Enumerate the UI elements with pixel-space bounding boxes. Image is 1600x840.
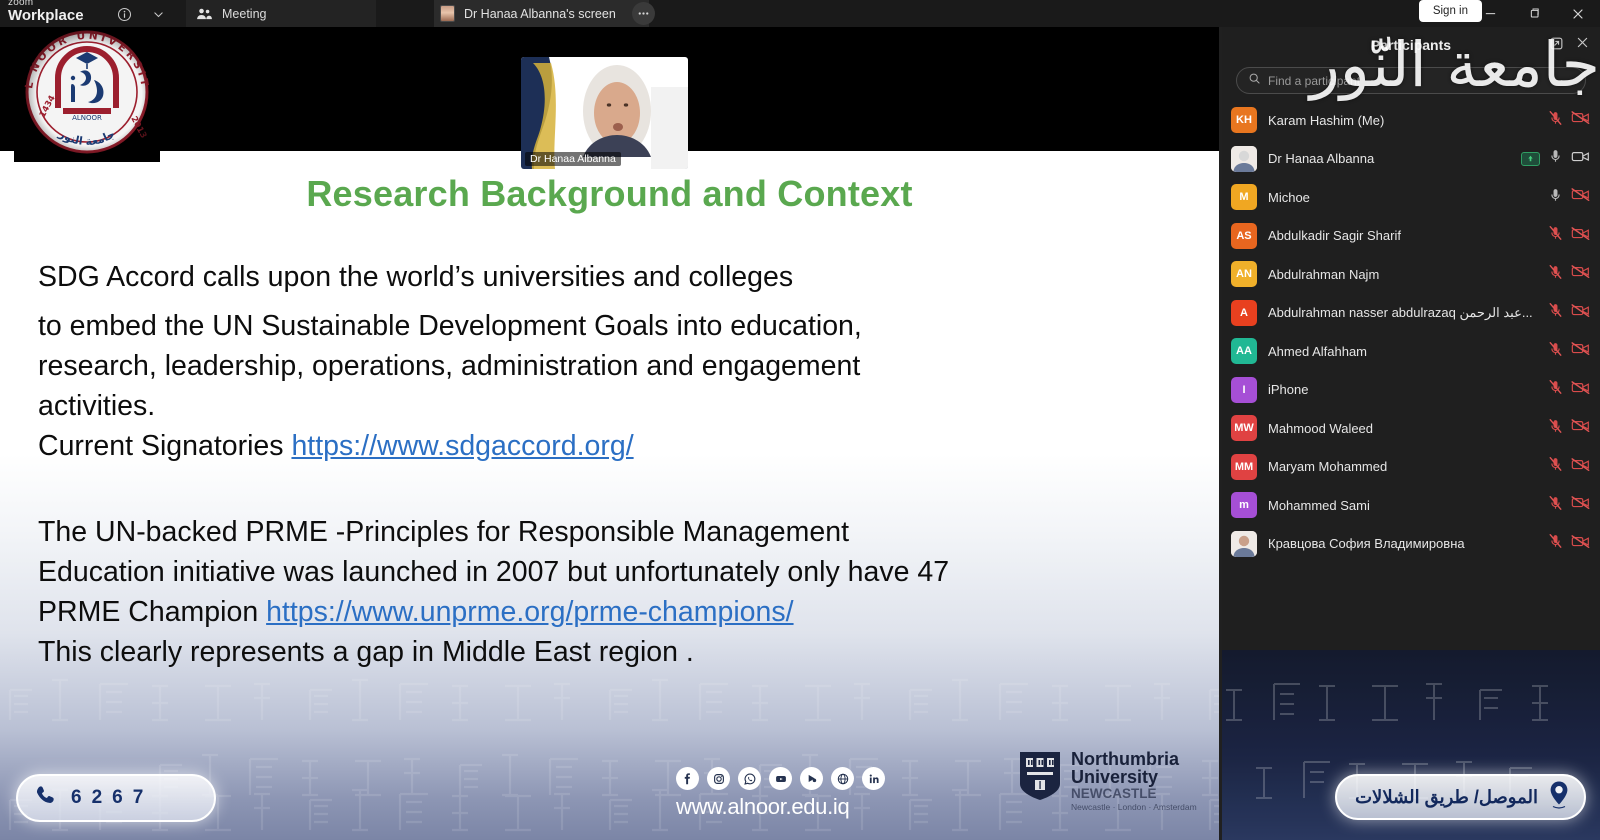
participant-row[interactable]: mMohammed Sami — [1222, 486, 1600, 525]
tab-meeting[interactable]: Meeting — [186, 0, 376, 27]
shared-screen-stage: Dr Hanaa Albanna Research Background and… — [0, 27, 1219, 840]
popout-icon[interactable] — [1549, 36, 1564, 56]
minimize-button[interactable] — [1468, 0, 1512, 27]
video-off-icon[interactable] — [1571, 418, 1590, 438]
video-off-icon[interactable] — [1571, 187, 1590, 207]
participant-name: Maryam Mohammed — [1268, 459, 1537, 474]
mic-muted-icon[interactable] — [1548, 225, 1563, 246]
search-icon — [1248, 72, 1261, 90]
mic-on-icon[interactable] — [1548, 148, 1563, 169]
slide-p1-l4: activities. — [38, 386, 1168, 426]
whatsapp-icon[interactable] — [738, 767, 761, 790]
mic-muted-icon[interactable] — [1548, 456, 1563, 477]
participant-status-icons — [1521, 148, 1590, 169]
zoom-window: zoom Workplace Meeting Dr Hanaa Albanna'… — [0, 0, 1600, 840]
participants-panel-header: Participants — [1222, 27, 1600, 63]
video-off-icon[interactable] — [1571, 495, 1590, 515]
northumbria-logo: Northumbria University NEWCASTLE Newcast… — [1018, 750, 1197, 812]
mic-muted-icon[interactable] — [1548, 495, 1563, 516]
participant-status-icons — [1548, 225, 1590, 246]
mic-muted-icon[interactable] — [1548, 379, 1563, 400]
participant-avatar — [1231, 146, 1257, 172]
slide-p2-l3: PRME Champion https://www.unprme.org/prm… — [38, 592, 1168, 632]
people-icon — [196, 7, 213, 21]
participant-status-icons — [1548, 456, 1590, 477]
participant-name: Abdulkadir Sagir Sharif — [1268, 228, 1537, 243]
linkedin-icon[interactable] — [862, 767, 885, 790]
slide-p2-l1: The UN-backed PRME -Principles for Respo… — [38, 512, 1168, 552]
participant-avatar: MM — [1231, 454, 1257, 480]
participant-avatar: KH — [1231, 107, 1257, 133]
tiktok-icon[interactable] — [800, 767, 823, 790]
participant-status-icons — [1548, 341, 1590, 362]
participant-row[interactable]: Кравцова София Владимировна — [1222, 525, 1600, 564]
northumbria-text: Northumbria University NEWCASTLE Newcast… — [1071, 750, 1197, 812]
location-text: الموصل/ طريق الشلالات — [1355, 787, 1538, 808]
self-view-video[interactable]: Dr Hanaa Albanna — [521, 57, 688, 169]
participant-name: iPhone — [1268, 382, 1537, 397]
mic-muted-icon[interactable] — [1548, 418, 1563, 439]
search-input[interactable] — [1268, 74, 1574, 88]
video-off-icon[interactable] — [1571, 303, 1590, 323]
participant-row[interactable]: MWMahmood Waleed — [1222, 409, 1600, 448]
northumbria-line1: Northumbria — [1071, 750, 1197, 768]
participant-row[interactable]: MMMaryam Mohammed — [1222, 448, 1600, 487]
participant-name: Abdulrahman nasser abdulrazaq عبد الرحمن… — [1268, 305, 1537, 321]
participant-row[interactable]: Dr Hanaa Albanna — [1222, 140, 1600, 179]
slide-p1-l1: SDG Accord calls upon the world’s univer… — [38, 257, 1168, 297]
participant-avatar: AS — [1231, 223, 1257, 249]
participant-name: Кравцова София Владимировна — [1268, 536, 1537, 551]
participant-name: Abdulrahman Najm — [1268, 267, 1537, 282]
participant-status-icons — [1548, 533, 1590, 554]
participant-avatar: m — [1231, 492, 1257, 518]
participant-row[interactable]: IiPhone — [1222, 371, 1600, 410]
self-view-name: Dr Hanaa Albanna — [525, 152, 621, 166]
info-icon[interactable] — [113, 3, 135, 25]
screen-share-badge — [1521, 152, 1540, 166]
participant-avatar: M — [1231, 184, 1257, 210]
participant-status-icons — [1548, 187, 1590, 208]
chevron-down-icon[interactable] — [147, 3, 169, 25]
slide-title: Research Background and Context — [0, 173, 1219, 215]
zoom-logo: zoom Workplace — [8, 0, 98, 23]
more-options-button[interactable] — [632, 2, 655, 25]
close-panel-icon[interactable] — [1575, 35, 1590, 55]
slide-p1-l3: research, leadership, operations, admini… — [38, 346, 1168, 386]
video-off-icon[interactable] — [1571, 341, 1590, 361]
location-badge: الموصل/ طريق الشلالات — [1335, 774, 1586, 820]
mic-muted-icon[interactable] — [1548, 341, 1563, 362]
instagram-icon[interactable] — [707, 767, 730, 790]
participant-row[interactable]: MMichoe — [1222, 178, 1600, 217]
maximize-button[interactable] — [1512, 0, 1556, 27]
participants-panel: Participants KHKaram Hashim (Me)Dr Hanaa… — [1222, 27, 1600, 840]
northumbria-line2: University — [1071, 768, 1197, 786]
video-off-icon[interactable] — [1571, 110, 1590, 130]
phone-badge: 6267 — [16, 774, 216, 822]
tab-shared-screen[interactable]: Dr Hanaa Albanna's screen — [434, 0, 649, 27]
slide-p1-l2: to embed the UN Sustainable Development … — [38, 306, 1168, 346]
prme-champion-label: PRME Champion — [38, 596, 266, 628]
participant-status-icons — [1548, 379, 1590, 400]
participant-name: Michoe — [1268, 190, 1537, 205]
mic-muted-icon[interactable] — [1548, 110, 1563, 131]
tab-shared-screen-label: Dr Hanaa Albanna's screen — [464, 7, 616, 21]
signatories-label: Current Signatories — [38, 430, 291, 462]
participant-name: Mohammed Sami — [1268, 498, 1537, 513]
close-button[interactable] — [1556, 0, 1600, 27]
participant-status-icons — [1548, 418, 1590, 439]
zoom-logo-line2: Workplace — [8, 8, 98, 24]
video-off-icon[interactable] — [1571, 534, 1590, 554]
video-off-icon[interactable] — [1571, 264, 1590, 284]
slide-p2-l2: Education initiative was launched in 200… — [38, 552, 1168, 592]
presentation-slide: Research Background and Context SDG Acco… — [0, 151, 1219, 840]
website-url: www.alnoor.edu.iq — [676, 794, 896, 820]
northumbria-line3: NEWCASTLE — [1071, 787, 1197, 801]
participant-row[interactable]: ANAbdulrahman Najm — [1222, 255, 1600, 294]
participant-row[interactable]: AAbdulrahman nasser abdulrazaq عبد الرحم… — [1222, 294, 1600, 333]
participant-name: Dr Hanaa Albanna — [1268, 151, 1510, 166]
phone-number: 6267 — [71, 787, 153, 809]
video-off-icon[interactable] — [1571, 457, 1590, 477]
screen-thumbnail-icon — [440, 5, 455, 22]
participant-avatar: AA — [1231, 338, 1257, 364]
mic-muted-icon[interactable] — [1548, 264, 1563, 285]
participant-row[interactable]: ASAbdulkadir Sagir Sharif — [1222, 217, 1600, 256]
participant-status-icons — [1548, 110, 1590, 131]
social-links: www.alnoor.edu.iq — [676, 767, 896, 820]
video-off-icon[interactable] — [1571, 226, 1590, 246]
northumbria-shield-icon — [1018, 750, 1062, 802]
phone-icon — [34, 783, 59, 813]
globe-icon[interactable] — [831, 767, 854, 790]
participant-avatar: MW — [1231, 415, 1257, 441]
alnoor-university-logo: AL NOOR UNIVERSITY جامعة النور ALNOOR 14… — [14, 22, 160, 162]
participant-row[interactable]: KHKaram Hashim (Me) — [1222, 101, 1600, 140]
participant-row[interactable]: AAAhmed Alfahham — [1222, 332, 1600, 371]
participant-avatar: I — [1231, 377, 1257, 403]
participant-list: KHKaram Hashim (Me)Dr Hanaa AlbannaMMich… — [1222, 101, 1600, 563]
tab-meeting-label: Meeting — [222, 7, 266, 21]
participants-title: Participants — [1371, 37, 1451, 53]
participant-name: Karam Hashim (Me) — [1268, 113, 1537, 128]
participant-name: Mahmood Waleed — [1268, 421, 1537, 436]
search-participant-field[interactable] — [1236, 67, 1586, 94]
participant-avatar: A — [1231, 300, 1257, 326]
participant-avatar: AN — [1231, 261, 1257, 287]
participant-status-icons — [1548, 495, 1590, 516]
window-title-bar: zoom Workplace Meeting Dr Hanaa Albanna'… — [0, 0, 1600, 27]
sdgaccord-link[interactable]: https://www.sdgaccord.org/ — [291, 430, 633, 462]
mic-on-icon[interactable] — [1548, 187, 1563, 208]
northumbria-line4: Newcastle · London · Amsterdam — [1071, 803, 1197, 812]
unprme-link[interactable]: https://www.unprme.org/prme-champions/ — [266, 596, 793, 628]
youtube-icon[interactable] — [769, 767, 792, 790]
map-pin-icon — [1546, 780, 1572, 815]
slide-body: SDG Accord calls upon the world’s univer… — [38, 257, 1168, 672]
video-on-icon[interactable] — [1571, 149, 1590, 169]
slide-p3: This clearly represents a gap in Middle … — [38, 632, 1168, 672]
facebook-icon[interactable] — [676, 767, 699, 790]
participant-avatar — [1231, 531, 1257, 557]
mic-muted-icon[interactable] — [1548, 302, 1563, 323]
participant-status-icons — [1548, 302, 1590, 323]
slide-signatories: Current Signatories https://www.sdgaccor… — [38, 426, 1168, 466]
participant-status-icons — [1548, 264, 1590, 285]
mic-muted-icon[interactable] — [1548, 533, 1563, 554]
participant-name: Ahmed Alfahham — [1268, 344, 1537, 359]
video-off-icon[interactable] — [1571, 380, 1590, 400]
